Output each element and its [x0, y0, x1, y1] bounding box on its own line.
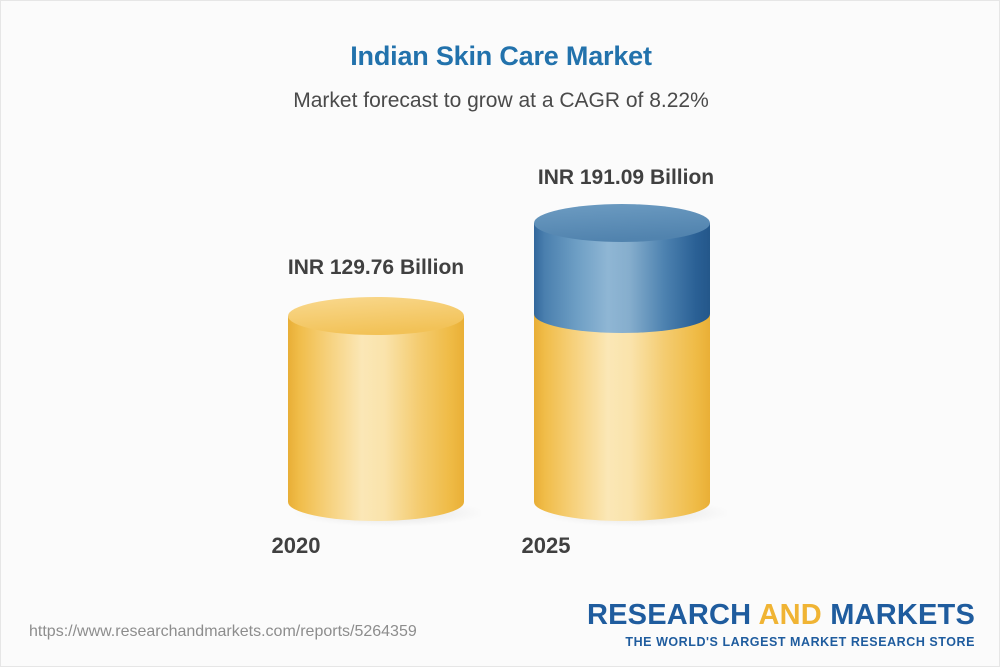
- cylinder-2020[interactable]: [281, 294, 481, 534]
- category-label-2025: 2025: [426, 533, 666, 559]
- brand-word-research: RESEARCH: [587, 599, 751, 631]
- source-url[interactable]: https://www.researchandmarkets.com/repor…: [29, 623, 417, 641]
- plot-area: INR 129.76 Billion: [1, 1, 1000, 601]
- cylinder-2020-body: [288, 316, 464, 521]
- brand-tagline: THE WORLD'S LARGEST MARKET RESEARCH STOR…: [587, 636, 975, 649]
- cylinder-2025-base-segment: [534, 314, 710, 521]
- value-label-2020: INR 129.76 Billion: [176, 256, 576, 280]
- brand-word-markets: MARKETS: [830, 599, 975, 631]
- cylinder-2025[interactable]: [527, 196, 727, 534]
- cylinder-2020-top: [288, 297, 464, 335]
- brand-logo: RESEARCH AND MARKETS THE WORLD'S LARGEST…: [587, 601, 975, 649]
- category-label-2020: 2020: [176, 533, 416, 559]
- cylinder-2025-top: [534, 204, 710, 242]
- value-label-2025: INR 191.09 Billion: [426, 166, 826, 190]
- cylinder-2025-svg: [527, 196, 727, 534]
- brand-word-and: AND: [759, 599, 822, 631]
- brand-wordmark: RESEARCH AND MARKETS: [587, 601, 975, 630]
- cylinder-2020-svg: [281, 294, 481, 534]
- chart-card: Indian Skin Care Market Market forecast …: [0, 0, 1000, 667]
